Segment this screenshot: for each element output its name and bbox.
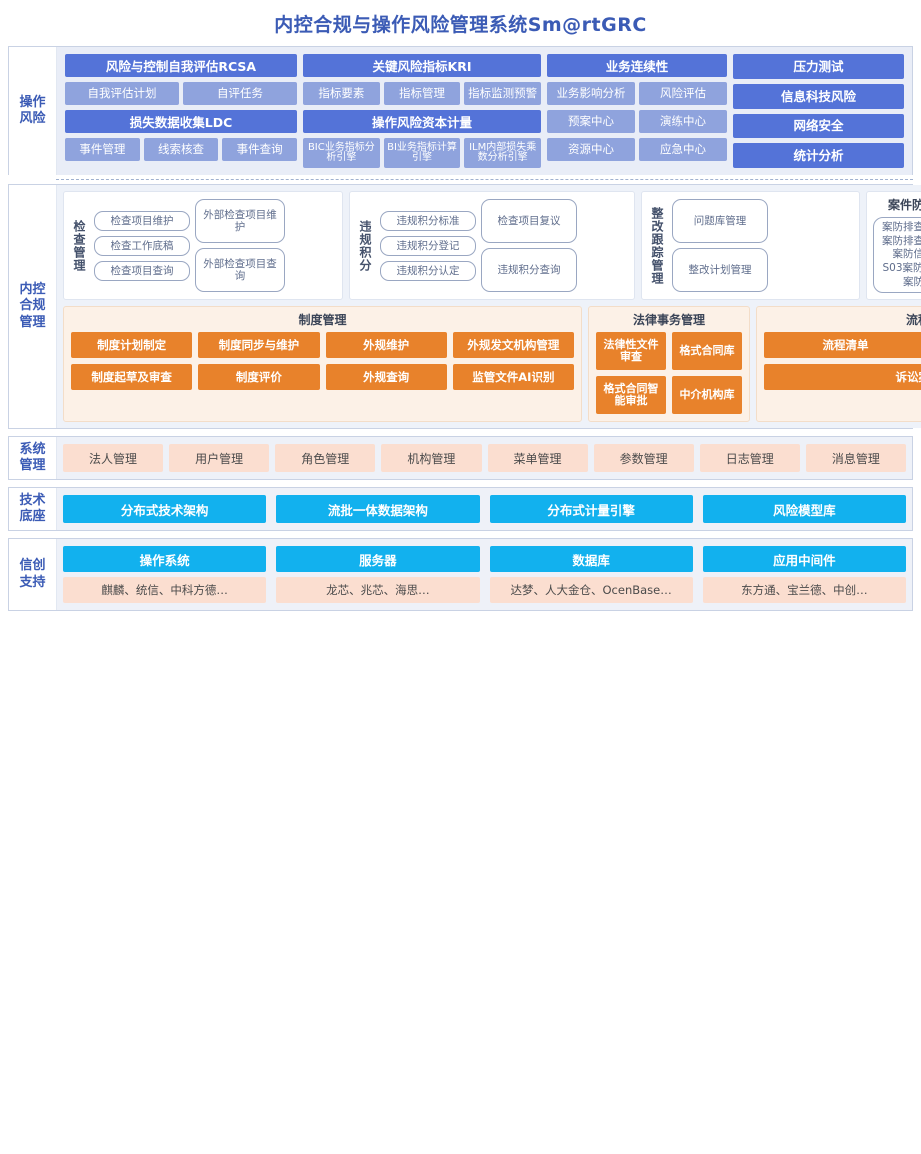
sys-item-log[interactable]: 日志管理 [700,444,800,472]
or-item[interactable]: 演练中心 [639,110,727,133]
orange-item[interactable]: 格式合同智能审批 [596,376,666,414]
orange-item[interactable]: 制度计划制定 [71,332,192,358]
or-item[interactable]: ILM内部损失乘数分析引擎 [464,138,541,168]
panel-title: 流程管理 [764,311,921,328]
or-item[interactable]: 自评任务 [183,82,297,105]
group-label: 整改跟踪管理 [648,197,667,294]
or-row: 自我评估计划 自评任务 [65,82,297,105]
or-item-stress-test[interactable]: 压力测试 [733,54,904,79]
tech-base-body: 分布式技术架构 流批一体数据架构 分布式计量引擎 风险模型库 [57,488,912,530]
xc-column-database: 数据库 达梦、人大金仓、OcenBase… [490,546,693,603]
title-bar: 内控合规与操作风险管理系统Sm@rtGRC [0,0,921,46]
pill-column: 违规积分标准 违规积分登记 违规积分认定 [380,211,476,281]
tech-base-label: 技术底座 [9,488,57,530]
list-item[interactable]: 案防报告 [882,276,921,290]
panel-row: 诉讼案件管理 [764,364,921,390]
xc-column-server: 服务器 龙芯、兆芯、海思… [276,546,479,603]
or-column-bcm: 业务连续性 业务影响分析 风险评估 预案中心 演练中心 资源中心 应急中心 [547,54,727,168]
panel-process-management: 流程管理 流程清单 流程梳理 诉讼案件管理 [756,306,921,422]
sys-item-parameter[interactable]: 参数管理 [594,444,694,472]
pill-item[interactable]: 违规积分登记 [380,236,476,256]
pill-item[interactable]: 外部检查项目查询 [195,248,285,292]
or-item[interactable]: 指标要素 [303,82,380,105]
or-item[interactable]: 预案中心 [547,110,635,133]
or-item-statistics[interactable]: 统计分析 [733,143,904,168]
or-item[interactable]: BI业务指标计算引擎 [384,138,461,168]
or-row: BIC业务指标分析引擎 BI业务指标计算引擎 ILM内部损失乘数分析引擎 [303,138,541,168]
pill-item[interactable]: 检查项目维护 [94,211,190,231]
group-case-prevention: 案件防控管理 案防排查方案管理 案防排查项目管理 案防信息报送 S03案防信息报… [866,191,921,300]
orange-item[interactable]: 外规维护 [326,332,447,358]
tech-item-measure-engine[interactable]: 分布式计量引擎 [490,495,693,523]
or-item[interactable]: 事件管理 [65,138,140,161]
ic-orange-row: 制度管理 制度计划制定 制度同步与维护 外规维护 外规发文机构管理 制度起草及审… [63,306,921,422]
group-label: 违规积分 [356,197,375,294]
panel-grid: 流程清单 流程梳理 诉讼案件管理 [764,332,921,414]
orange-item[interactable]: 监管文件AI识别 [453,364,574,390]
pill-item[interactable]: 违规积分查询 [481,248,577,292]
operation-risk-band: 操作风险 风险与控制自我评估RCSA 自我评估计划 自评任务 损失数据收集LDC… [8,46,913,175]
xinchuang-band: 信创支持 操作系统 麒麟、统信、中科方德… 服务器 龙芯、兆芯、海思… 数据库 … [8,538,913,611]
list-item[interactable]: 案防排查方案管理 [882,221,921,235]
orange-item[interactable]: 制度评价 [198,364,319,390]
or-head-ldc[interactable]: 损失数据收集LDC [65,110,297,133]
orange-item[interactable]: 法律性文件审查 [596,332,666,370]
panel-row: 制度起草及审查 制度评价 外规查询 监管文件AI识别 [71,364,574,390]
tech-item-risk-model-lib[interactable]: 风险模型库 [703,495,906,523]
pill-item[interactable]: 违规积分标准 [380,211,476,231]
xc-vendors: 达梦、人大金仓、OcenBase… [490,577,693,603]
system-management-label: 系统管理 [9,437,57,479]
orange-item[interactable]: 制度起草及审查 [71,364,192,390]
tech-item-data-arch[interactable]: 流批一体数据架构 [276,495,479,523]
sys-item-user[interactable]: 用户管理 [169,444,269,472]
app-root: 内控合规与操作风险管理系统Sm@rtGRC 操作风险 风险与控制自我评估RCSA… [0,0,921,640]
panel-legal-affairs: 法律事务管理 法律性文件审查 格式合同库 格式合同智能审批 中介机构库 [588,306,750,422]
xinchuang-label: 信创支持 [9,539,57,610]
pill-item[interactable]: 问题库管理 [672,199,768,243]
or-item[interactable]: BIC业务指标分析引擎 [303,138,380,168]
group-label: 检查管理 [70,197,89,294]
or-row: 预案中心 演练中心 [547,110,727,133]
panel-row: 流程清单 流程梳理 [764,332,921,358]
panel-title: 法律事务管理 [596,311,742,328]
pill-column: 检查项目维护 检查工作底稿 检查项目查询 [94,211,190,281]
xc-vendors: 龙芯、兆芯、海思… [276,577,479,603]
panel-grid: 制度计划制定 制度同步与维护 外规维护 外规发文机构管理 制度起草及审查 制度评… [71,332,574,414]
orange-item[interactable]: 格式合同库 [672,332,742,370]
or-row: 指标要素 指标管理 指标监测预警 [303,82,541,105]
orange-item[interactable]: 流程清单 [764,332,921,358]
or-head-rcsa[interactable]: 风险与控制自我评估RCSA [65,54,297,77]
orange-item[interactable]: 诉讼案件管理 [764,364,921,390]
xinchuang-body: 操作系统 麒麟、统信、中科方德… 服务器 龙芯、兆芯、海思… 数据库 达梦、人大… [57,539,912,610]
xc-head[interactable]: 数据库 [490,546,693,572]
system-management-body: 法人管理 用户管理 角色管理 机构管理 菜单管理 参数管理 日志管理 消息管理 [57,437,912,479]
or-item[interactable]: 指标管理 [384,82,461,105]
sys-item-menu[interactable]: 菜单管理 [488,444,588,472]
list-item[interactable]: 案防排查项目管理 [882,235,921,249]
list-item[interactable]: 案防信息报送 [882,248,921,262]
pill-item[interactable]: 整改计划管理 [672,248,768,292]
xc-head[interactable]: 操作系统 [63,546,266,572]
orange-item[interactable]: 外规发文机构管理 [453,332,574,358]
orange-item[interactable]: 外规查询 [326,364,447,390]
list-item[interactable]: S03案防信息报告 [882,262,921,276]
internal-control-body: 检查管理 检查项目维护 检查工作底稿 检查项目查询 外部检查项目维护 外部检查项… [57,185,921,428]
tech-base-band: 技术底座 分布式技术架构 流批一体数据架构 分布式计量引擎 风险模型库 [8,487,913,531]
xc-column-os: 操作系统 麒麟、统信、中科方德… [63,546,266,603]
pill-item[interactable]: 检查项目查询 [94,261,190,281]
panel-grid: 法律性文件审查 格式合同库 格式合同智能审批 中介机构库 [596,332,742,414]
sys-item-role[interactable]: 角色管理 [275,444,375,472]
group-rectification-tracking: 整改跟踪管理 问题库管理 整改计划管理 [641,191,860,300]
system-management-band: 系统管理 法人管理 用户管理 角色管理 机构管理 菜单管理 参数管理 日志管理 … [8,436,913,480]
page-title: 内控合规与操作风险管理系统Sm@rtGRC [274,10,647,37]
or-item[interactable]: 自我评估计划 [65,82,179,105]
pill-item[interactable]: 违规积分认定 [380,261,476,281]
or-item[interactable]: 事件查询 [222,138,297,161]
tech-item-distributed-arch[interactable]: 分布式技术架构 [63,495,266,523]
panel-policy-management: 制度管理 制度计划制定 制度同步与维护 外规维护 外规发文机构管理 制度起草及审… [63,306,582,422]
group-inspection-management: 检查管理 检查项目维护 检查工作底稿 检查项目查询 外部检查项目维护 外部检查项… [63,191,343,300]
xc-head[interactable]: 应用中间件 [703,546,906,572]
or-item-cyber-security[interactable]: 网络安全 [733,114,904,139]
or-item[interactable]: 业务影响分析 [547,82,635,105]
or-item[interactable]: 风险评估 [639,82,727,105]
panel-row: 制度计划制定 制度同步与维护 外规维护 外规发文机构管理 [71,332,574,358]
internal-control-label: 内控合规管理 [9,185,57,428]
panel-title: 制度管理 [71,311,574,328]
or-item[interactable]: 线索核查 [144,138,219,161]
sys-item-legal-entity[interactable]: 法人管理 [63,444,163,472]
or-row: 资源中心 应急中心 [547,138,727,161]
xc-column-middleware: 应用中间件 东方通、宝兰德、中创… [703,546,906,603]
or-head-bcm[interactable]: 业务连续性 [547,54,727,77]
or-item-it-risk[interactable]: 信息科技风险 [733,84,904,109]
panel-row: 法律性文件审查 格式合同库 [596,332,742,370]
pill-column: 检查项目复议 违规积分查询 [481,199,577,292]
orange-item[interactable]: 制度同步与维护 [198,332,319,358]
or-item[interactable]: 应急中心 [639,138,727,161]
or-head-capital[interactable]: 操作风险资本计量 [303,110,541,133]
pill-column: 外部检查项目维护 外部检查项目查询 [195,199,285,292]
or-row: 事件管理 线索核查 事件查询 [65,138,297,161]
sys-item-org[interactable]: 机构管理 [381,444,481,472]
or-item[interactable]: 指标监测预警 [464,82,541,105]
xc-head[interactable]: 服务器 [276,546,479,572]
orange-item[interactable]: 中介机构库 [672,376,742,414]
xc-vendors: 麒麟、统信、中科方德… [63,577,266,603]
group-violation-points: 违规积分 违规积分标准 违规积分登记 违规积分认定 检查项目复议 违规积分查询 [349,191,635,300]
or-column-extras: 压力测试 信息科技风险 网络安全 统计分析 [733,54,904,168]
pill-item[interactable]: 外部检查项目维护 [195,199,285,243]
or-column-kri: 关键风险指标KRI 指标要素 指标管理 指标监测预警 操作风险资本计量 BIC业… [303,54,541,168]
pill-column: 问题库管理 整改计划管理 [672,199,768,292]
or-head-kri[interactable]: 关键风险指标KRI [303,54,541,77]
internal-control-band: 内控合规管理 检查管理 检查项目维护 检查工作底稿 检查项目查询 外部检查项目维… [8,184,913,429]
pill-item[interactable]: 检查工作底稿 [94,236,190,256]
list-box: 案防排查方案管理 案防排查项目管理 案防信息报送 S03案防信息报告 案防报告 [873,217,921,293]
sys-item-message[interactable]: 消息管理 [806,444,906,472]
or-column-rcsa: 风险与控制自我评估RCSA 自我评估计划 自评任务 损失数据收集LDC 事件管理… [65,54,297,168]
or-item[interactable]: 资源中心 [547,138,635,161]
section-divider [56,179,913,180]
group-title: 案件防控管理 [888,196,921,213]
pill-item[interactable]: 检查项目复议 [481,199,577,243]
panel-row: 格式合同智能审批 中介机构库 [596,376,742,414]
or-row: 业务影响分析 风险评估 [547,82,727,105]
xc-vendors: 东方通、宝兰德、中创… [703,577,906,603]
operation-risk-body: 风险与控制自我评估RCSA 自我评估计划 自评任务 损失数据收集LDC 事件管理… [57,47,912,175]
ic-groups-row: 检查管理 检查项目维护 检查工作底稿 检查项目查询 外部检查项目维护 外部检查项… [63,191,921,300]
operation-risk-label: 操作风险 [9,47,57,175]
